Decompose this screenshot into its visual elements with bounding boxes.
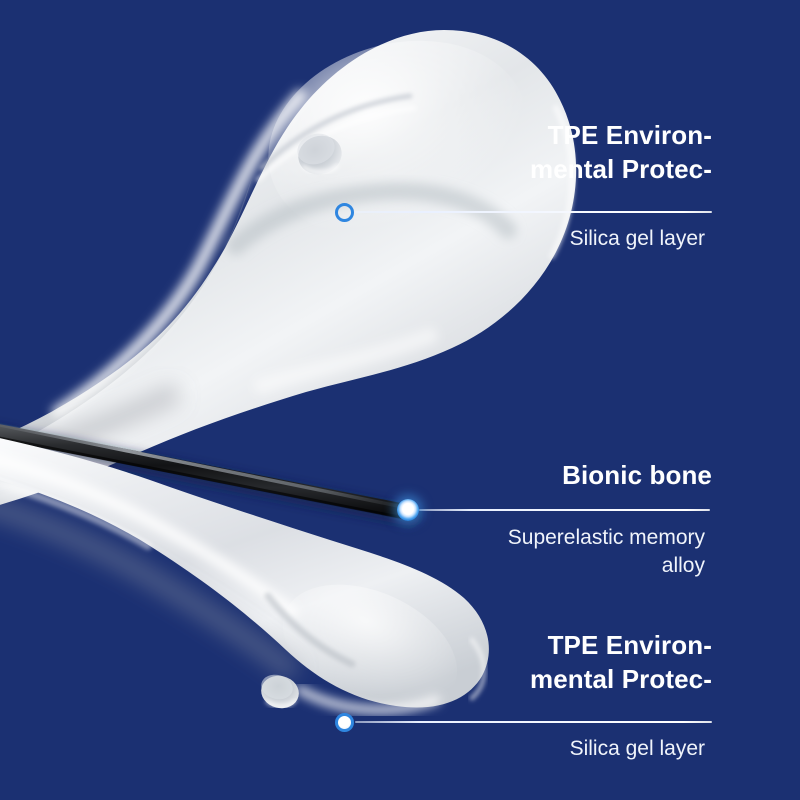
callout-top-subtitle: Silica gel layer <box>570 225 705 253</box>
callout-bottom-rule <box>355 721 712 723</box>
callout-top-title: TPE Environ- mental Protec- <box>530 118 712 186</box>
callout-bottom-subtitle: Silica gel layer <box>570 735 705 763</box>
callout-top-rule <box>355 211 712 213</box>
silicone-paddle-pad <box>0 430 489 737</box>
marker-icon-bottom[interactable] <box>335 713 354 732</box>
silicone-teardrop-pad <box>0 11 576 516</box>
marker-icon-top[interactable] <box>335 203 354 222</box>
pad-dimple-lower <box>258 671 303 712</box>
callout-middle-title: Bionic bone <box>562 458 712 492</box>
marker-icon-middle[interactable] <box>397 499 419 521</box>
callout-bottom-title: TPE Environ- mental Protec- <box>530 628 712 696</box>
callout-middle-subtitle: Superelastic memory alloy <box>508 524 705 580</box>
infographic-canvas: TPE Environ- mental Protec- Silica gel l… <box>0 0 800 800</box>
memory-alloy-wire <box>0 421 410 518</box>
pad-dimple-upper <box>293 129 347 180</box>
callout-middle-rule <box>419 509 710 511</box>
